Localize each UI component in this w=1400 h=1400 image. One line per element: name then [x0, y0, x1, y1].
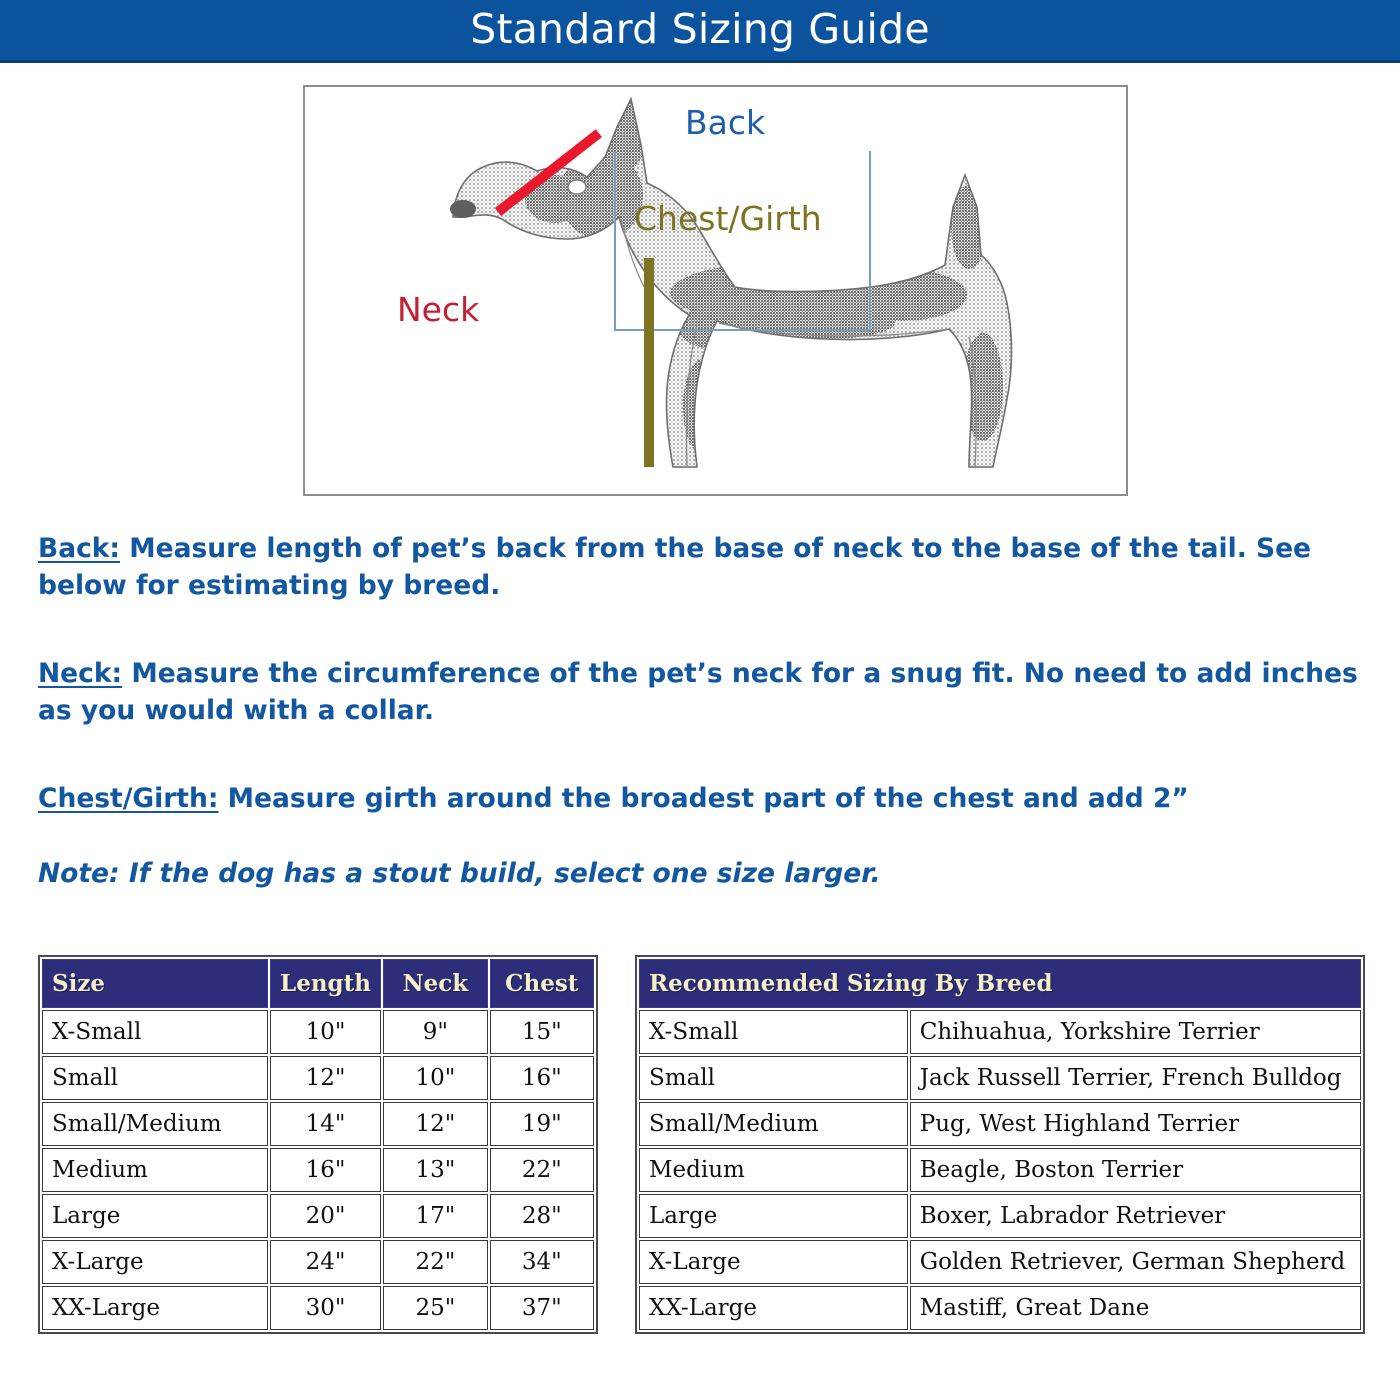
breed-table-title: Recommended Sizing By Breed: [639, 959, 1361, 1008]
cell-length: 20": [270, 1194, 381, 1238]
table-row: Large Boxer, Labrador Retriever: [639, 1194, 1361, 1238]
sizing-measurements-table: Size Length Neck Chest X-Small 10" 9" 15…: [38, 955, 598, 1334]
cell-neck: 17": [383, 1194, 487, 1238]
back-label: Back: [685, 103, 765, 142]
table-header-row: Size Length Neck Chest: [42, 959, 594, 1008]
cell-breeds: Chihuahua, Yorkshire Terrier: [910, 1010, 1361, 1054]
cell-breeds: Jack Russell Terrier, French Bulldog: [910, 1056, 1361, 1100]
instruction-back-text: Measure length of pet’s back from the ba…: [38, 533, 1311, 601]
cell-size: Medium: [639, 1148, 908, 1192]
cell-size: XX-Large: [639, 1286, 908, 1330]
instruction-back: Back: Measure length of pet’s back from …: [38, 530, 1368, 604]
instruction-chest-text: Measure girth around the broadest part o…: [218, 783, 1188, 814]
cell-size: Small: [42, 1056, 268, 1100]
column-header-chest: Chest: [490, 959, 594, 1008]
cell-size: X-Small: [639, 1010, 908, 1054]
table-row: Medium 16" 13" 22": [42, 1148, 594, 1192]
table-row: Large 20" 17" 28": [42, 1194, 594, 1238]
cell-size: Small/Medium: [42, 1102, 268, 1146]
cell-chest: 28": [490, 1194, 594, 1238]
cell-size: Medium: [42, 1148, 268, 1192]
instruction-neck-keyword: Neck:: [38, 658, 122, 689]
cell-size: X-Large: [42, 1240, 268, 1284]
table-row: Medium Beagle, Boston Terrier: [639, 1148, 1361, 1192]
table-row: X-Large Golden Retriever, German Shepher…: [639, 1240, 1361, 1284]
cell-neck: 9": [383, 1010, 487, 1054]
cell-chest: 22": [490, 1148, 594, 1192]
cell-chest: 19": [490, 1102, 594, 1146]
cell-breeds: Beagle, Boston Terrier: [910, 1148, 1361, 1192]
cell-breeds: Pug, West Highland Terrier: [910, 1102, 1361, 1146]
instruction-chest-keyword: Chest/Girth:: [38, 783, 218, 814]
table-header-row: Recommended Sizing By Breed: [639, 959, 1361, 1008]
column-header-length: Length: [270, 959, 381, 1008]
table-row: Small Jack Russell Terrier, French Bulld…: [639, 1056, 1361, 1100]
cell-length: 14": [270, 1102, 381, 1146]
instruction-back-keyword: Back:: [38, 533, 120, 564]
table-row: X-Small Chihuahua, Yorkshire Terrier: [639, 1010, 1361, 1054]
dog-measurement-diagram: Back Chest/Girth Neck: [303, 85, 1128, 496]
table-row: X-Large 24" 22" 34": [42, 1240, 594, 1284]
cell-neck: 13": [383, 1148, 487, 1192]
cell-size: X-Large: [639, 1240, 908, 1284]
table-row: Small/Medium Pug, West Highland Terrier: [639, 1102, 1361, 1146]
table-row: Small/Medium 14" 12" 19": [42, 1102, 594, 1146]
cell-length: 30": [270, 1286, 381, 1330]
cell-neck: 25": [383, 1286, 487, 1330]
neck-label: Neck: [397, 290, 479, 329]
cell-chest: 15": [490, 1010, 594, 1054]
recommended-sizing-by-breed-table: Recommended Sizing By Breed X-Small Chih…: [635, 955, 1365, 1334]
cell-breeds: Boxer, Labrador Retriever: [910, 1194, 1361, 1238]
table-row: XX-Large Mastiff, Great Dane: [639, 1286, 1361, 1330]
cell-length: 12": [270, 1056, 381, 1100]
cell-neck: 22": [383, 1240, 487, 1284]
cell-chest: 16": [490, 1056, 594, 1100]
table-row: XX-Large 30" 25" 37": [42, 1286, 594, 1330]
cell-length: 24": [270, 1240, 381, 1284]
cell-length: 16": [270, 1148, 381, 1192]
cell-size: Large: [639, 1194, 908, 1238]
cell-size: Large: [42, 1194, 268, 1238]
table-row: Small 12" 10" 16": [42, 1056, 594, 1100]
instruction-note: Note: If the dog has a stout build, sele…: [38, 855, 1368, 892]
instruction-neck: Neck: Measure the circumference of the p…: [38, 655, 1368, 729]
column-header-size: Size: [42, 959, 268, 1008]
cell-length: 10": [270, 1010, 381, 1054]
chest-girth-measure-bar: [644, 258, 654, 467]
chest-girth-label: Chest/Girth: [634, 199, 822, 238]
cell-size: Small: [639, 1056, 908, 1100]
instruction-neck-text: Measure the circumference of the pet’s n…: [38, 658, 1358, 726]
page-header-banner: Standard Sizing Guide: [0, 0, 1400, 63]
cell-breeds: Golden Retriever, German Shepherd: [910, 1240, 1361, 1284]
cell-chest: 34": [490, 1240, 594, 1284]
cell-breeds: Mastiff, Great Dane: [910, 1286, 1361, 1330]
cell-size: X-Small: [42, 1010, 268, 1054]
table-row: X-Small 10" 9" 15": [42, 1010, 594, 1054]
instruction-chest: Chest/Girth: Measure girth around the br…: [38, 780, 1368, 817]
page-title: Standard Sizing Guide: [0, 0, 1400, 60]
cell-size: XX-Large: [42, 1286, 268, 1330]
cell-size: Small/Medium: [639, 1102, 908, 1146]
cell-chest: 37": [490, 1286, 594, 1330]
cell-neck: 10": [383, 1056, 487, 1100]
cell-neck: 12": [383, 1102, 487, 1146]
column-header-neck: Neck: [383, 959, 487, 1008]
